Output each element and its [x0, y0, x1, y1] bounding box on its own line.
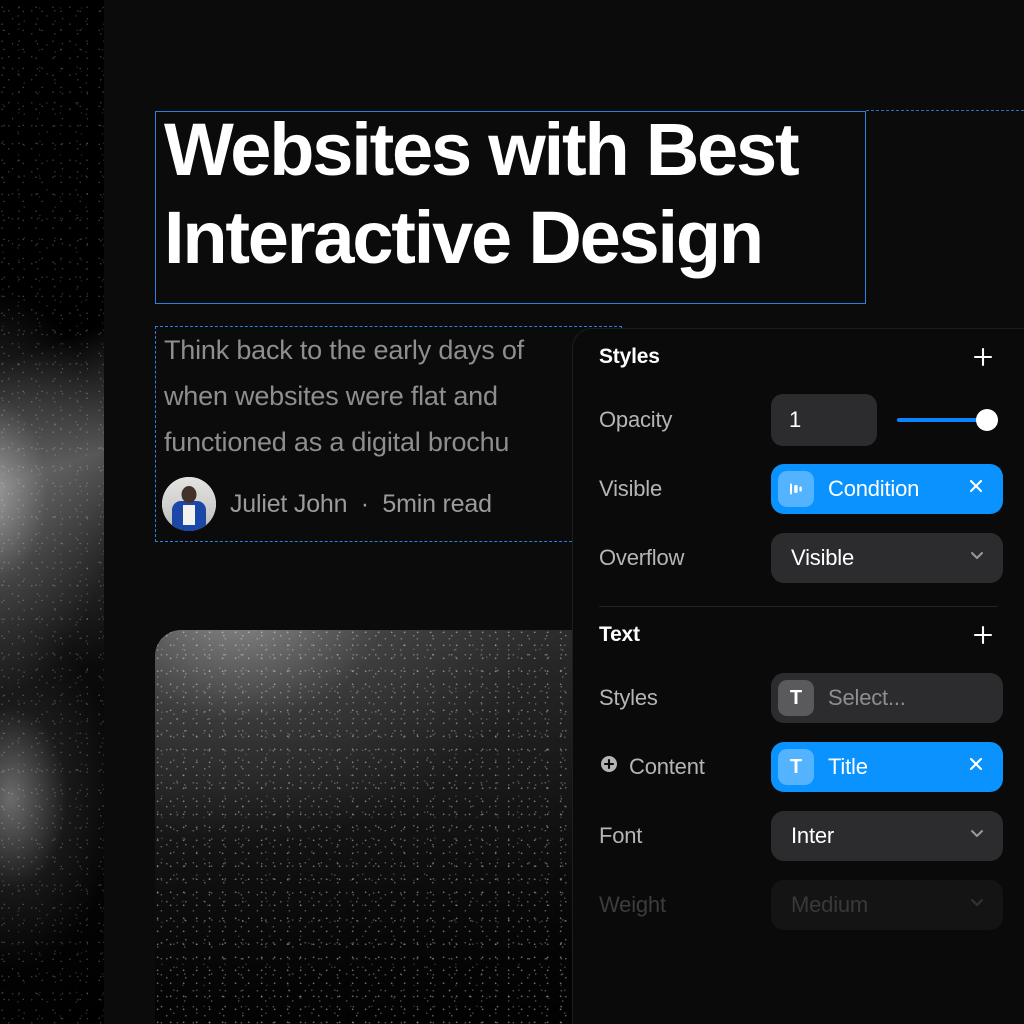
byline-text: Juliet John · 5min read — [230, 490, 492, 519]
close-icon — [967, 477, 985, 500]
overflow-row: Overflow Visible — [599, 523, 998, 592]
background-photo-strip — [0, 0, 104, 1024]
content-title-badge[interactable]: T Title — [771, 742, 1003, 792]
byline: Juliet John · 5min read — [162, 477, 492, 531]
styles-section-header: Styles — [599, 329, 998, 385]
chevron-down-icon — [967, 823, 987, 848]
close-icon — [967, 755, 985, 778]
remove-content-button[interactable] — [965, 756, 987, 778]
font-select[interactable]: Inter — [771, 811, 1003, 861]
text-content-row: Content T Title — [599, 732, 998, 801]
remove-condition-button[interactable] — [965, 478, 987, 500]
text-styles-placeholder: Select... — [828, 685, 987, 711]
heading-selection-box[interactable]: Websites with Best Interactive Design — [155, 111, 866, 304]
text-styles-row: Styles T Select... — [599, 663, 998, 732]
app-root: Websites with Best Interactive Design Th… — [0, 0, 1024, 1024]
opacity-label: Opacity — [599, 407, 771, 433]
opacity-slider[interactable] — [897, 409, 998, 431]
circle-plus-icon[interactable] — [599, 754, 619, 780]
avatar — [162, 477, 216, 531]
body-selection-box[interactable]: Think back to the early days of when web… — [155, 326, 622, 542]
overflow-label: Overflow — [599, 545, 771, 571]
content-chip-glyph: T — [790, 757, 802, 777]
visible-condition-text: Condition — [828, 476, 951, 502]
add-text-property-button[interactable] — [968, 620, 998, 650]
opacity-input[interactable]: 1 — [771, 394, 877, 446]
chevron-down-icon — [967, 545, 987, 570]
overflow-value: Visible — [791, 545, 854, 571]
weight-value: Medium — [791, 892, 868, 918]
visible-label: Visible — [599, 476, 771, 502]
weight-label: Weight — [599, 892, 771, 918]
inspector-panel: Styles Opacity 1 Visible — [572, 328, 1024, 1024]
visible-condition-badge[interactable]: Condition — [771, 464, 1003, 514]
hero-image-card[interactable] — [155, 630, 635, 1024]
condition-bars-icon — [778, 471, 814, 507]
visible-row: Visible Condition — [599, 454, 998, 523]
content-title-text: Title — [828, 754, 951, 780]
font-value: Inter — [791, 823, 834, 849]
text-content-label: Content — [629, 754, 705, 780]
overflow-select[interactable]: Visible — [771, 533, 1003, 583]
styles-section-title: Styles — [599, 345, 660, 369]
chevron-down-icon — [967, 892, 987, 917]
text-type-icon: T — [778, 749, 814, 785]
text-section-header: Text — [599, 607, 998, 663]
font-label: Font — [599, 823, 771, 849]
plus-icon — [971, 623, 995, 647]
text-chip-glyph: T — [790, 688, 802, 708]
weight-select[interactable]: Medium — [771, 880, 1003, 930]
page-title[interactable]: Websites with Best Interactive Design — [164, 106, 864, 282]
alignment-guide-dashed — [866, 110, 1024, 111]
text-type-icon: T — [778, 680, 814, 716]
plus-icon — [971, 345, 995, 369]
add-style-button[interactable] — [968, 342, 998, 372]
text-section-title: Text — [599, 623, 640, 647]
weight-row: Weight Medium — [599, 870, 998, 939]
text-styles-select[interactable]: T Select... — [771, 673, 1003, 723]
slider-track — [897, 418, 986, 422]
slider-knob[interactable] — [976, 409, 998, 431]
text-content-label-wrap: Content — [599, 754, 771, 780]
opacity-row: Opacity 1 — [599, 385, 998, 454]
text-styles-label: Styles — [599, 685, 771, 711]
font-row: Font Inter — [599, 801, 998, 870]
